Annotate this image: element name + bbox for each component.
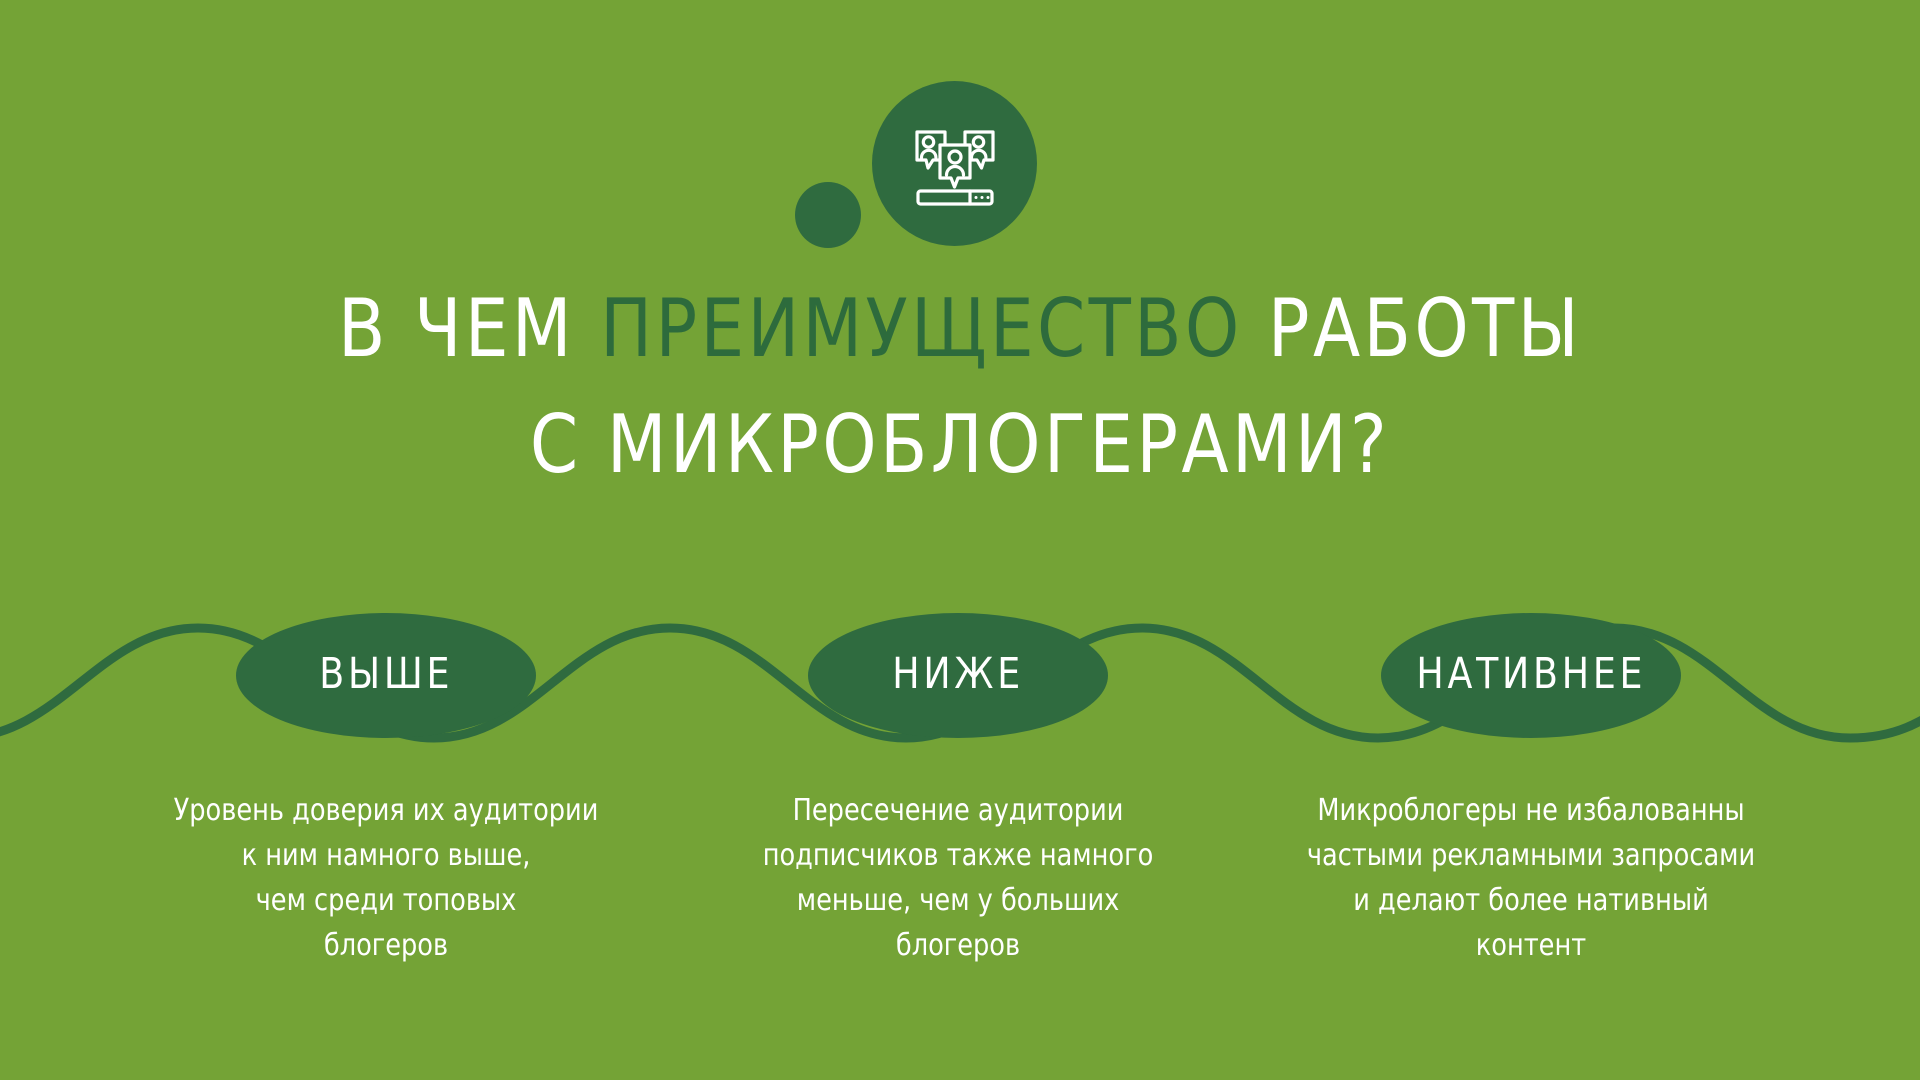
desc-line: блогеров <box>711 923 1205 968</box>
item-pill-0[interactable]: выше <box>236 613 536 738</box>
infographic-slide: В чем преимущество работы с микроблогера… <box>0 0 1920 1080</box>
desc-line: меньше, чем у больших <box>711 878 1205 923</box>
desc-line: подписчиков также намного <box>711 833 1205 878</box>
desc-line: блогеров <box>139 923 633 968</box>
title-line1-part3: работы <box>1243 282 1582 375</box>
title-line-2: с микроблогерами? <box>38 404 1881 486</box>
decorative-dot <box>795 182 861 248</box>
item-pill-1[interactable]: ниже <box>808 613 1108 738</box>
desc-line: Микроблогеры не избалованны <box>1279 788 1783 833</box>
desc-line: частыми рекламными запросами <box>1279 833 1783 878</box>
desc-line: к ним намного выше, <box>139 833 633 878</box>
title-accent-word: преимущество <box>600 282 1242 375</box>
desc-line: контент <box>1279 923 1783 968</box>
item-description-0: Уровень доверия их аудитории к ним намно… <box>139 788 633 968</box>
audience-speech-bubbles-icon <box>872 81 1037 246</box>
item-pill-label-2: нативнее <box>1416 649 1646 699</box>
desc-line: чем среди топовых <box>139 878 633 923</box>
page-title: В чем преимущество работы с микроблогера… <box>0 288 1920 485</box>
item-description-2: Микроблогеры не избалованны частыми рекл… <box>1279 788 1783 968</box>
title-line1-part1: В чем <box>338 282 600 375</box>
title-line-1: В чем преимущество работы <box>38 288 1881 370</box>
desc-line: Пересечение аудитории <box>711 788 1205 833</box>
item-description-1: Пересечение аудитории подписчиков также … <box>711 788 1205 968</box>
desc-line: и делают более нативный <box>1279 878 1783 923</box>
item-pill-label-1: ниже <box>892 649 1024 699</box>
desc-line: Уровень доверия их аудитории <box>139 788 633 833</box>
item-pill-2[interactable]: нативнее <box>1381 613 1681 738</box>
item-pill-label-0: выше <box>319 649 453 699</box>
